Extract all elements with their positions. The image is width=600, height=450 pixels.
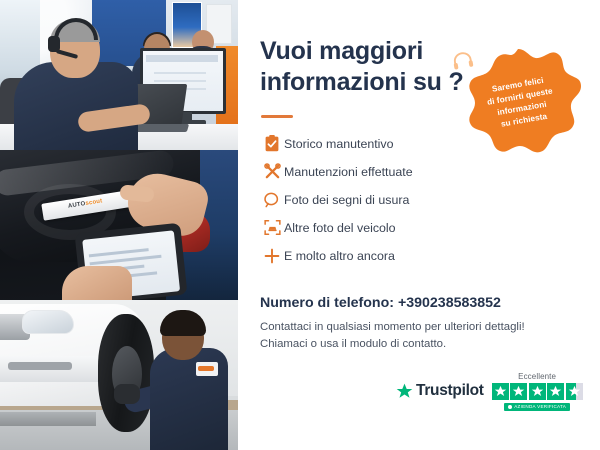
ruler-brand-label: AUTOscout	[68, 198, 103, 209]
verified-check-icon	[508, 405, 512, 409]
feature-label: Foto dei segni di usura	[284, 193, 409, 207]
feature-label: Altre foto del veicolo	[284, 221, 396, 235]
feature-label: Manutenzioni effettuate	[284, 165, 413, 179]
monitor-screen-toolbar	[146, 55, 218, 62]
headset-icon	[450, 50, 475, 72]
phone-line: Numero di telefono: +390238583852	[260, 295, 501, 311]
badge-text: Saremo felici di fornirti queste informa…	[472, 72, 571, 135]
feature-label: E molto altro ancora	[284, 249, 395, 263]
trustpilot-rating[interactable]: Trustpilot Eccellente	[396, 372, 583, 411]
car-air-vent	[8, 362, 72, 370]
feature-item-altre-foto-veicolo[interactable]: Altre foto del veicolo	[260, 214, 510, 241]
feature-label: Storico manutentivo	[284, 137, 394, 151]
feature-item-foto-segni-usura[interactable]: Foto dei segni di usura	[260, 186, 510, 213]
monitor-screen-line	[154, 80, 206, 82]
feature-item-molto-altro[interactable]: E molto altro ancora	[260, 242, 510, 269]
vehicle-inspection-photo: AUTOscout	[0, 150, 238, 300]
info-panel: Vuoi maggiori informazioni su ? Saremo f…	[238, 0, 600, 450]
plus-icon	[260, 245, 284, 267]
magnifier-icon	[260, 189, 284, 211]
trustpilot-star-box	[510, 383, 527, 400]
page-title: Vuoi maggiori informazioni su ?	[260, 36, 480, 97]
inspector-hand-lower	[62, 266, 132, 300]
call-center-agent-photo	[0, 0, 238, 150]
vehicle-photo-frame-icon	[260, 217, 284, 239]
title-underline-rule	[261, 115, 293, 118]
trustpilot-score: Eccellente	[492, 372, 583, 411]
trustpilot-star-box	[547, 383, 564, 400]
verified-label: AZIENDA VERIFICATA	[514, 404, 566, 409]
trustpilot-star-box	[529, 383, 546, 400]
trustpilot-star-box-partial	[566, 383, 583, 400]
feature-item-manutenzioni-effettuate[interactable]: Manutenzioni effettuate	[260, 158, 510, 185]
page-title-line-2: informazioni su ?	[260, 68, 464, 96]
photo-column: AUTOscout	[0, 0, 238, 450]
contact-text-line-1: Contattaci in qualsiasi momento per ulte…	[260, 321, 525, 333]
trustpilot-star-box	[492, 383, 509, 400]
contact-text-line-2: Chiamaci o usa il modulo di contatto.	[260, 338, 446, 350]
promo-panel: AUTOscout	[0, 0, 600, 450]
mechanic-tire-check-photo	[0, 300, 238, 450]
phone-number[interactable]: +390238583852	[398, 295, 501, 311]
vehicle-lift-ramp	[0, 412, 96, 426]
crossed-tools-icon	[260, 161, 284, 183]
car-headlight	[22, 310, 74, 334]
mechanic-glove	[114, 384, 140, 404]
trustpilot-logo: Trustpilot	[396, 382, 484, 400]
uniform-logo-patch	[196, 362, 218, 376]
trustpilot-star-icon	[396, 383, 413, 400]
verified-business-badge: AZIENDA VERIFICATA	[504, 403, 570, 411]
monitor-screen-line	[154, 72, 206, 74]
feature-item-storico-manutentivo[interactable]: Storico manutentivo	[260, 130, 510, 157]
page-title-line-1: Vuoi maggiori	[260, 37, 423, 65]
phone-label: Numero di telefono:	[260, 295, 394, 311]
trustpilot-star-row	[492, 383, 583, 400]
trustpilot-rating-label: Eccellente	[518, 372, 556, 381]
feature-list: Storico manutentivo Manutenzioni effettu…	[260, 130, 510, 270]
trustpilot-wordmark: Trustpilot	[416, 382, 484, 400]
clipboard-check-icon	[260, 133, 284, 155]
